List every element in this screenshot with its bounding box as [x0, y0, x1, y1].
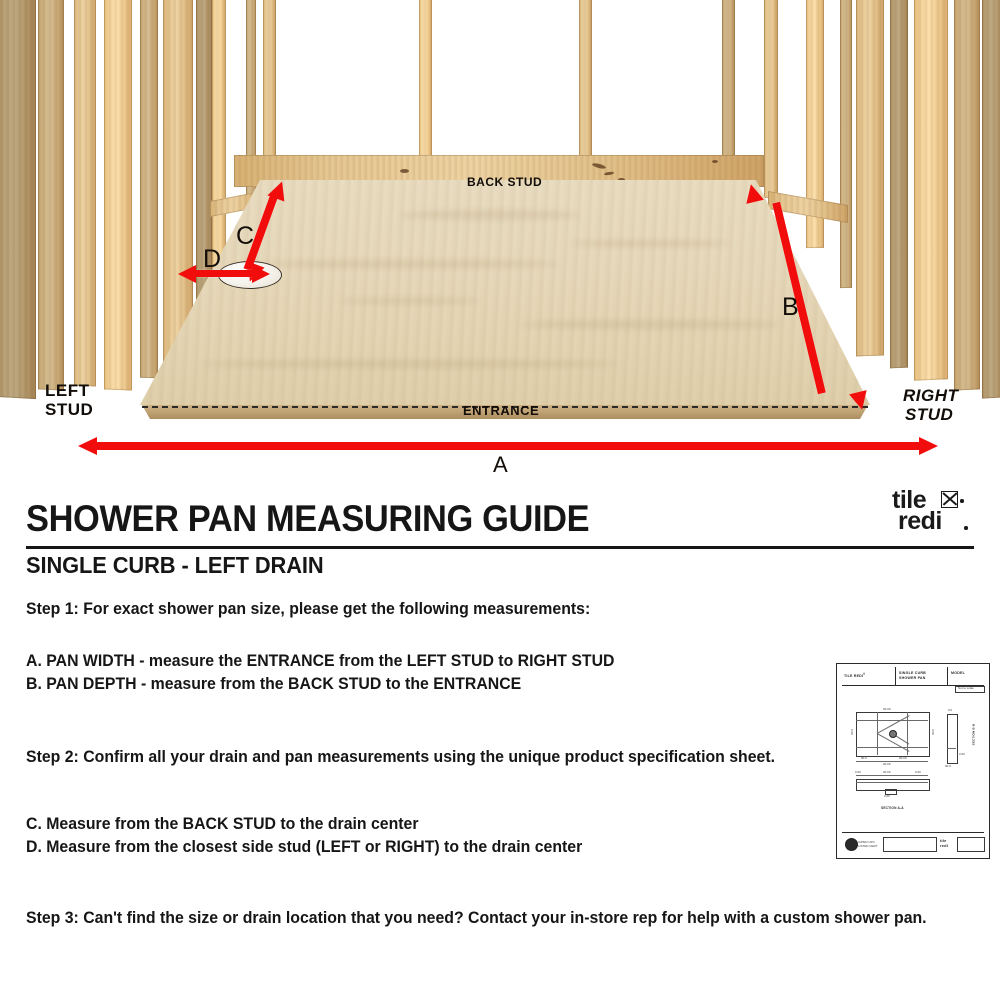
wood-knot-1	[400, 169, 409, 173]
arrowhead-b-bottom	[849, 390, 871, 412]
spec-dim-line-bottom	[856, 761, 928, 762]
label-right-stud-line2: STUD	[905, 405, 953, 425]
spec-footer-rule	[842, 832, 984, 833]
step-3-text: Step 3: Can't find the size or drain loc…	[26, 907, 953, 930]
label-entrance: ENTRANCE	[463, 403, 539, 418]
item-a-prefix: A.	[26, 652, 46, 670]
tile-redi-logo: tile redi	[884, 486, 980, 544]
measure-arrow-b	[740, 186, 870, 408]
spec-sheet-thumbnail: TILE REDI® SINGLE CURB SHOWER PAN MODEL …	[836, 663, 990, 859]
item-b-rest: - measure from the BACK STUD to the ENTR…	[137, 675, 522, 693]
shower-framing-photo: C D B A BACK STUD LEFT STUD RIGHT STUD E…	[0, 0, 1000, 480]
square-x-icon	[941, 491, 958, 508]
stud-left-c	[104, 0, 132, 391]
item-a-bold: PAN WIDTH	[46, 652, 135, 670]
measurement-items-cd: C. Measure from the BACK STUD to the dra…	[26, 813, 852, 859]
spec-plan-vline-2	[907, 712, 908, 755]
wood-knot-5	[712, 160, 718, 163]
label-back-stud: BACK STUD	[467, 175, 542, 189]
spec-section-aa-line	[856, 782, 928, 783]
spec-section-aa-dim-l: 0.00	[855, 770, 861, 774]
spec-footer-rev-box	[957, 837, 985, 852]
measure-label-c: C	[236, 222, 255, 251]
page-subtitle: SINGLE CURB - LEFT DRAIN	[26, 552, 324, 579]
logo-dot-upper	[960, 499, 964, 503]
stud-left-a	[38, 0, 64, 391]
spec-dim-bottom-left: 00.0	[861, 756, 867, 760]
stud-right-d	[954, 0, 980, 391]
stud-right-b	[890, 0, 908, 368]
stud-left-outer	[0, 0, 36, 399]
arrowhead-b-top	[742, 182, 764, 204]
measure-arrow-d	[182, 265, 270, 283]
spec-dim-left: 00.0	[850, 729, 854, 735]
measurement-items-ab: A. PAN WIDTH - measure the ENTRANCE from…	[26, 650, 852, 696]
arrowhead-a-left	[78, 437, 97, 455]
item-d: D. Measure from the closest side stud (L…	[26, 836, 852, 859]
spec-plan-hline-2	[856, 747, 928, 748]
arrowhead-d-right	[252, 265, 270, 283]
spec-side-dim-bottom: 00.0	[945, 764, 951, 768]
spec-side-elevation	[947, 714, 958, 764]
item-c: C. Measure from the BACK STUD to the dra…	[26, 813, 852, 836]
spec-dim-bottom: 00.00	[883, 762, 891, 766]
spec-ul-listing-icon	[845, 838, 858, 851]
guide-text-content: SHOWER PAN MEASURING GUIDE SINGLE CURB -…	[0, 480, 1000, 1000]
spec-dim-bottom-right: 00.00	[899, 756, 907, 760]
spec-brand: TILE REDI®	[844, 672, 865, 679]
spec-cert-text2: LISTED CERT	[858, 844, 877, 848]
arrowhead-d-left	[178, 265, 196, 283]
label-left-stud-line2: STUD	[45, 400, 93, 420]
label-left-stud-line1: LEFT	[45, 381, 90, 401]
spec-side-detail	[947, 748, 956, 749]
item-b-bold: PAN DEPTH	[46, 675, 136, 693]
stud-left-b	[74, 0, 96, 386]
spec-side-dim-top: 0.0	[948, 708, 952, 712]
measure-label-a: A	[493, 452, 508, 478]
spec-section-aa-label: SECTION A-A	[881, 806, 904, 811]
spec-section-aa-dim-r: 0.00	[915, 770, 921, 774]
stud-right-inner-corner	[764, 0, 778, 198]
stud-right-c	[914, 0, 948, 381]
spec-logo-line2: redi	[940, 843, 948, 848]
spec-header-div1	[895, 667, 896, 685]
spec-dim-top: 00.00	[883, 707, 891, 711]
spec-dim-right: 00.0	[931, 729, 935, 735]
spec-side-dim-mid: 0.00	[959, 752, 965, 756]
spec-section-aa-dim: 00.00	[883, 770, 891, 774]
spec-section-bb-label: SECTION B-B	[971, 724, 976, 746]
spec-footer-blank-box	[883, 837, 937, 852]
page-title: SHOWER PAN MEASURING GUIDE	[26, 498, 589, 540]
spec-plan-hline-1	[856, 720, 928, 721]
logo-dot-lower	[964, 526, 968, 530]
spec-header-div2	[947, 667, 948, 685]
step-2-text: Step 2: Confirm all your drain and pan m…	[26, 746, 819, 769]
item-a: A. PAN WIDTH - measure the ENTRANCE from…	[26, 650, 852, 673]
stud-left-d	[140, 0, 158, 378]
spec-model-label: MODEL	[951, 671, 965, 676]
stud-right-outer	[982, 0, 1000, 399]
logo-line2: redi	[898, 507, 942, 536]
label-right-stud-line1: RIGHT	[903, 386, 958, 406]
measure-label-d: D	[203, 245, 222, 274]
title-divider	[26, 546, 974, 549]
shower-pan-measuring-guide-page: C D B A BACK STUD LEFT STUD RIGHT STUD E…	[0, 0, 1000, 1000]
step-1-text: Step 1: For exact shower pan size, pleas…	[26, 598, 832, 621]
spec-note-text: Not to scale	[958, 686, 974, 690]
spec-section-aa-dimline	[856, 775, 928, 776]
measure-label-b: B	[782, 293, 799, 322]
item-b-prefix: B.	[26, 675, 46, 693]
arrowhead-a-right	[919, 437, 938, 455]
spec-section-aa-detail-dim: 0.00	[884, 794, 890, 798]
spec-title-line2: SHOWER PAN	[899, 676, 926, 681]
item-b: B. PAN DEPTH - measure from the BACK STU…	[26, 673, 852, 696]
spec-drain-circle	[889, 730, 897, 738]
item-a-rest: - measure the ENTRANCE from the LEFT STU…	[135, 652, 615, 670]
